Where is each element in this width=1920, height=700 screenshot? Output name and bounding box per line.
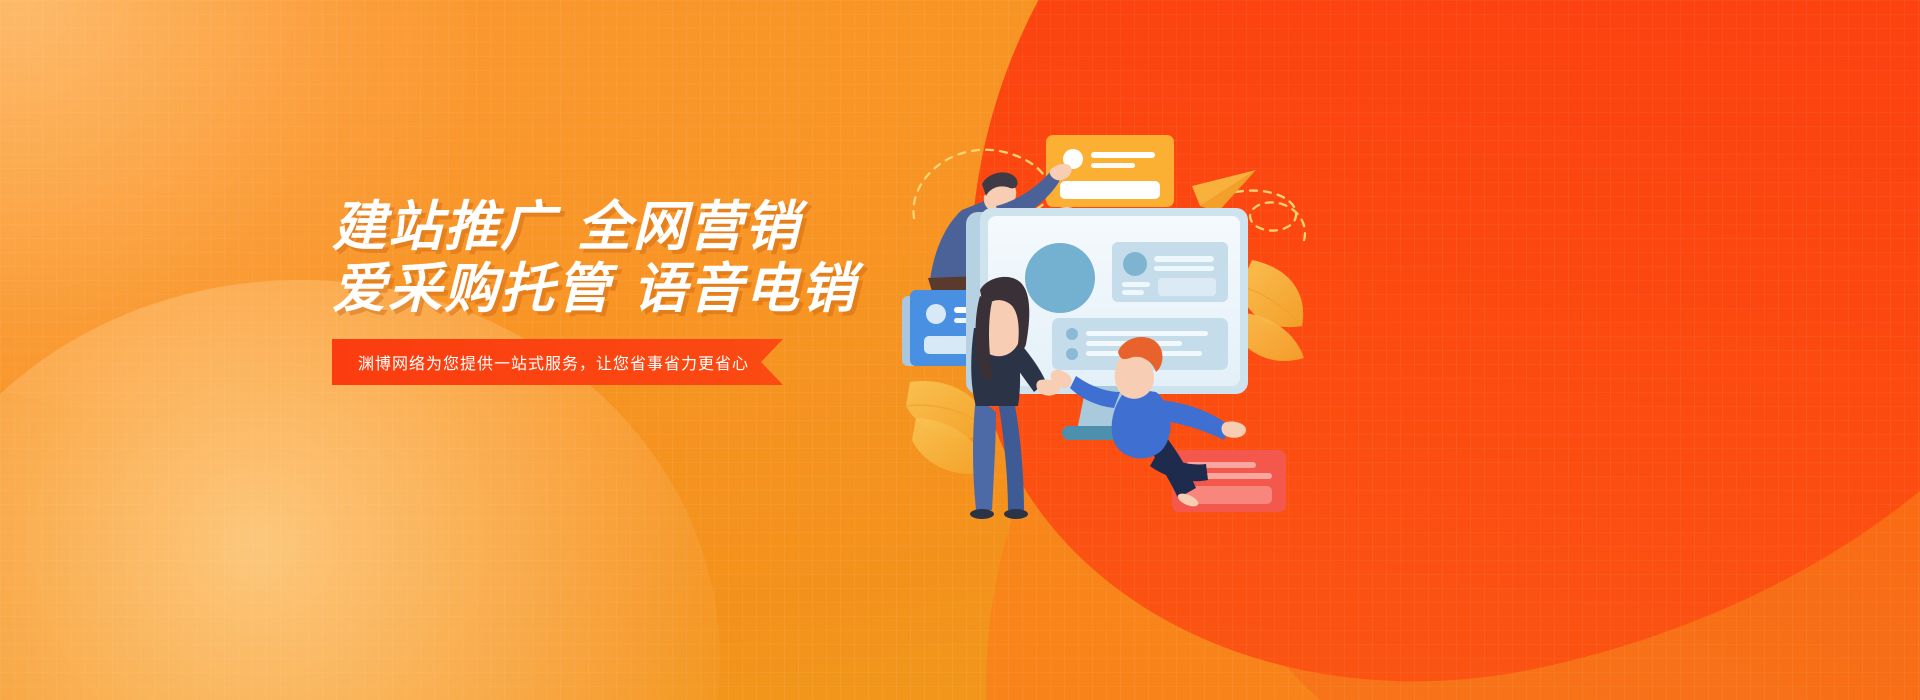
screen-avatar-circle [1025,243,1095,313]
hero-illustration [900,100,1320,520]
paper-plane-icon [1192,170,1256,212]
tagline-ribbon: 渊博网络为您提供一站式服务，让您省事省力更省心 [332,339,783,385]
tagline-text: 渊博网络为您提供一站式服务，让您省事省力更省心 [358,350,749,374]
promo-banner: 建站推广 全网营销 爱采购托管 语音电销 渊博网络为您提供一站式服务，让您省事省… [0,0,1920,700]
screen-profile-card [1112,242,1228,302]
